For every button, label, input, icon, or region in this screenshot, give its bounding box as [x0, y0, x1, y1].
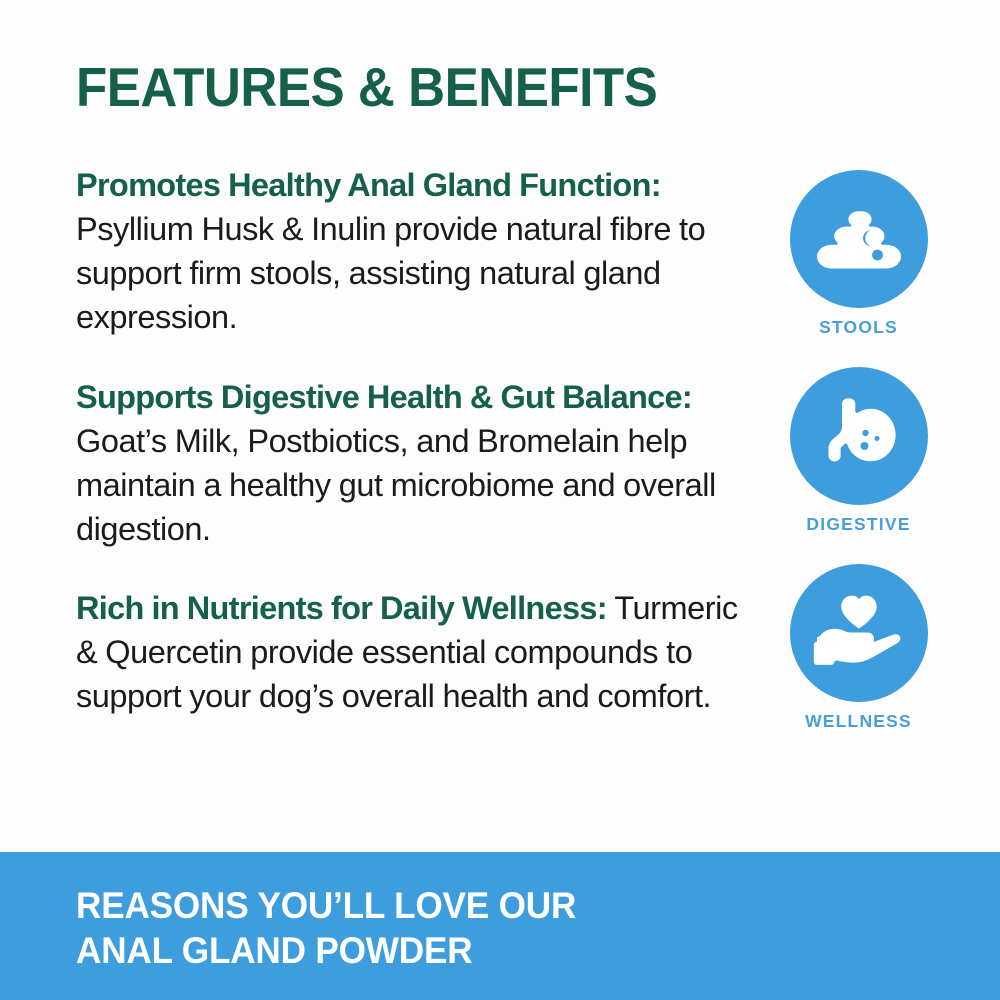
benefit-item-anal-gland: Promotes Healthy Anal Gland Function: Ps…	[76, 163, 776, 339]
benefit-item-digestive: Supports Digestive Health & Gut Balance:…	[76, 375, 776, 551]
benefit-lead-label: Supports Digestive Health & Gut Balance:	[76, 379, 692, 415]
icon-block-stools: STOOLS	[786, 170, 931, 338]
icon-block-digestive: DIGESTIVE	[786, 367, 931, 535]
stools-icon-circle	[790, 170, 928, 308]
icon-label-stools: STOOLS	[786, 317, 931, 338]
benefit-lead-label: Promotes Healthy Anal Gland Function:	[76, 167, 661, 203]
benefit-text: Promotes Healthy Anal Gland Function: Ps…	[76, 163, 716, 339]
benefit-text: Supports Digestive Health & Gut Balance:…	[76, 375, 776, 551]
benefit-item-wellness: Rich in Nutrients for Daily Wellness: Tu…	[76, 586, 776, 718]
hand-heart-icon	[813, 594, 905, 672]
icon-block-wellness: WELLNESS	[786, 564, 931, 732]
wellness-icon-circle	[790, 564, 928, 702]
banner-title: REASONS YOU’LL LOVE OUR ANAL GLAND POWDE…	[76, 883, 576, 973]
stomach-icon	[819, 396, 899, 476]
digestive-icon-circle	[790, 367, 928, 505]
benefit-body-text: Goat’s Milk, Postbiotics, and Bromelain …	[76, 423, 716, 547]
icon-label-digestive: DIGESTIVE	[786, 514, 931, 535]
features-benefits-panel: FEATURES & BENEFITS Promotes Healthy Ana…	[0, 0, 1000, 1000]
icon-rail: STOOLS DIGESTIVE	[786, 170, 931, 742]
bottom-banner: REASONS YOU’LL LOVE OUR ANAL GLAND POWDE…	[0, 852, 1000, 1000]
benefit-text: Rich in Nutrients for Daily Wellness: Tu…	[76, 586, 746, 718]
benefits-list: Promotes Healthy Anal Gland Function: Ps…	[76, 163, 776, 718]
benefit-lead-label: Rich in Nutrients for Daily Wellness:	[76, 590, 607, 626]
page-title: FEATURES & BENEFITS	[76, 57, 657, 117]
benefit-body-text: Psyllium Husk & Inulin provide natural f…	[76, 211, 705, 335]
icon-label-wellness: WELLNESS	[786, 711, 931, 732]
stool-icon	[817, 208, 901, 270]
